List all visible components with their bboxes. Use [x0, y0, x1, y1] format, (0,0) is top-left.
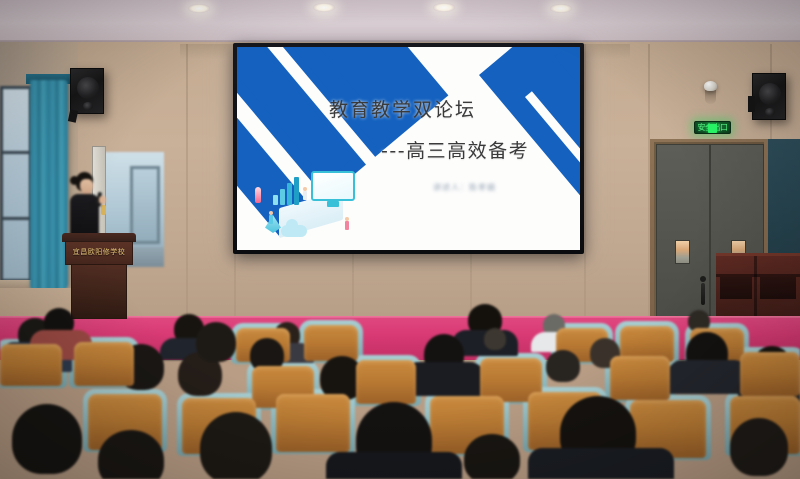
wall-seam: [186, 44, 188, 334]
presenter-person: [66, 172, 106, 242]
led-presentation-screen[interactable]: 教育教学双论坛 ---高三高效备考 讲述人：陈孝娟: [233, 43, 584, 254]
audience-shoulders: [404, 362, 484, 396]
door-lock-icon[interactable]: [700, 276, 706, 282]
ceiling-downlight: [188, 4, 210, 13]
audience-shoulders: [326, 452, 462, 479]
right-wall-panel: [768, 139, 800, 259]
auditorium-seat[interactable]: [74, 342, 134, 386]
audience-head: [546, 350, 580, 382]
wall-seam: [584, 44, 586, 334]
audience-shoulders: [528, 448, 674, 479]
slide-presenter-line: 讲述人：陈孝娟: [433, 182, 496, 193]
dome-mount: [705, 90, 716, 104]
illustration-cloud-icon: [281, 225, 307, 237]
ceiling-downlight: [313, 3, 335, 12]
audience-head: [12, 404, 82, 474]
ceiling-downlight: [550, 4, 572, 13]
audience-head: [484, 328, 506, 350]
ceiling: [0, 0, 800, 42]
slide-title: 教育教学双论坛: [329, 95, 476, 122]
audience-area: [0, 300, 800, 479]
auditorium-seat[interactable]: [0, 344, 62, 386]
auditorium-seat[interactable]: [304, 325, 358, 361]
auditorium-seat[interactable]: [356, 360, 416, 404]
illustration-bar-chart: [273, 175, 307, 205]
podium-nameplate: 宜昌欧阳修学校: [65, 245, 133, 259]
auditorium-seat[interactable]: [276, 394, 350, 452]
dome-camera-icon: [704, 81, 717, 91]
slide-subtitle: ---高三高效备考: [381, 136, 529, 163]
auditorium-seat[interactable]: [740, 352, 800, 396]
running-man-icon: [708, 124, 717, 133]
audience-head: [200, 412, 272, 479]
emergency-exit-sign: 安全出口: [694, 121, 731, 134]
ceiling-downlight: [433, 3, 455, 12]
wall-speaker-left: [70, 68, 104, 114]
audience-shoulders: [668, 360, 748, 394]
audience-head: [196, 322, 236, 362]
wall-speaker-right: [752, 73, 786, 120]
door-window: [675, 240, 690, 264]
audience-head: [464, 434, 520, 479]
auditorium-scene: 安全出口: [0, 0, 800, 479]
presentation-slide: 教育教学双论坛 ---高三高效备考 讲述人：陈孝娟: [237, 47, 580, 250]
slide-illustration: [249, 165, 369, 243]
auditorium-seat[interactable]: [610, 356, 670, 400]
audience-head: [730, 418, 788, 476]
speaker-bracket-right: [748, 96, 755, 112]
